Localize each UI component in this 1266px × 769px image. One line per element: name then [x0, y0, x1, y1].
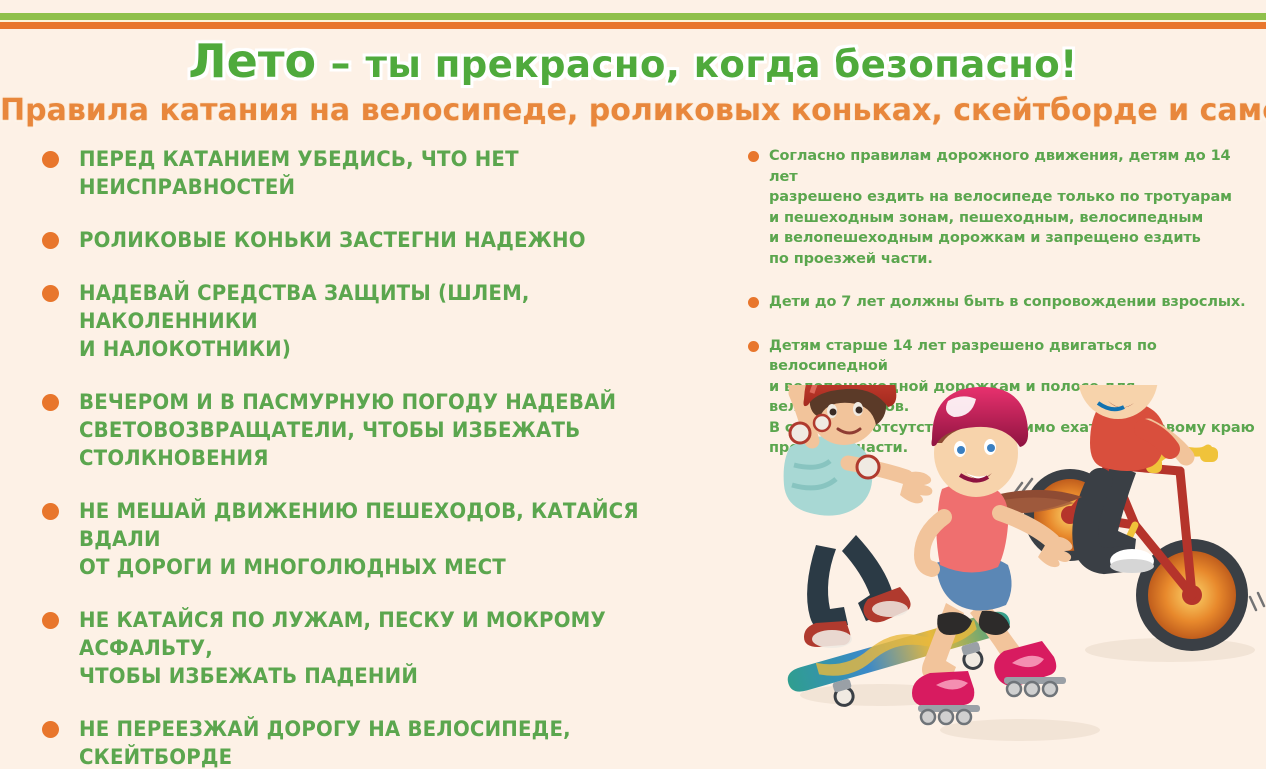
rule-text: ВЕЧЕРОМ И В ПАСМУРНУЮ ПОГОДУ НАДЕВАЙ СВЕ…	[79, 388, 702, 472]
title-word-summer: Лето	[188, 34, 316, 88]
skate-wheel	[1007, 682, 1021, 696]
skate-wheel	[1043, 682, 1057, 696]
poster-root: Лето – ты прекрасно, когда безопасно! Пр…	[0, 0, 1266, 769]
poster-title: Лето – ты прекрасно, когда безопасно!	[0, 34, 1266, 88]
green-stripe	[0, 13, 1266, 20]
list-item: НЕ МЕШАЙ ДВИЖЕНИЮ ПЕШЕХОДОВ, КАТАЙСЯ ВДА…	[42, 497, 742, 581]
skate-wheel	[921, 710, 935, 724]
rollerblade-back	[912, 671, 980, 724]
eye	[856, 407, 863, 414]
bullet-dot-icon	[42, 151, 59, 168]
bullet-dot-icon	[748, 341, 759, 352]
rule-text: НЕ КАТАЙСЯ ПО ЛУЖАМ, ПЕСКУ И МОКРОМУ АСФ…	[79, 606, 702, 690]
orange-stripe	[0, 22, 1266, 29]
skate-wheel	[1025, 682, 1039, 696]
list-item: НЕ ПЕРЕЕЗЖАЙ ДОРОГУ НА ВЕЛОСИПЕДЕ, СКЕЙТ…	[42, 715, 742, 769]
bullet-dot-icon	[42, 612, 59, 629]
eye	[987, 444, 995, 452]
title-tagline: ты прекрасно, когда безопасно!	[365, 43, 1077, 86]
rule-text: НАДЕВАЙ СРЕДСТВА ЗАЩИТЫ (ШЛЕМ, НАКОЛЕННИ…	[79, 279, 702, 363]
skate-wheel	[957, 710, 971, 724]
eye	[957, 446, 965, 454]
note-text: Дети до 7 лет должны быть в сопровождени…	[769, 292, 1246, 313]
title-dash: –	[316, 41, 365, 87]
bullet-dot-icon	[42, 721, 59, 738]
wristband	[857, 456, 879, 478]
bullet-dot-icon	[748, 151, 759, 162]
list-item: НЕ КАТАЙСЯ ПО ЛУЖАМ, ПЕСКУ И МОКРОМУ АСФ…	[42, 606, 742, 690]
list-item: ПЕРЕД КАТАНИЕМ УБЕДИСЬ, ЧТО НЕТ НЕИСПРАВ…	[42, 145, 742, 201]
note-text: Согласно правилам дорожного движения, де…	[769, 146, 1258, 269]
bicycle-boy	[1013, 385, 1264, 651]
skater-leg-back	[807, 545, 848, 631]
rule-text: ПЕРЕД КАТАНИЕМ УБЕДИСЬ, ЧТО НЕТ НЕИСПРАВ…	[79, 145, 702, 201]
top-decorative-stripes	[0, 0, 1266, 30]
bullet-dot-icon	[42, 394, 59, 411]
bullet-dot-icon	[42, 285, 59, 302]
subtitle-text: Правила катания на велосипеде, роликовых…	[0, 93, 1266, 128]
list-item: Дети до 7 лет должны быть в сопровождени…	[748, 292, 1258, 313]
rule-text: НЕ ПЕРЕЕЗЖАЙ ДОРОГУ НА ВЕЛОСИПЕДЕ, СКЕЙТ…	[79, 715, 702, 769]
poster-subtitle: Правила катания на велосипеде, роликовых…	[0, 93, 1266, 128]
list-item: НАДЕВАЙ СРЕДСТВА ЗАЩИТЫ (ШЛЕМ, НАКОЛЕННИ…	[42, 279, 742, 363]
bullet-dot-icon	[42, 503, 59, 520]
rules-list: ПЕРЕД КАТАНИЕМ УБЕДИСЬ, ЧТО НЕТ НЕИСПРАВ…	[42, 145, 742, 769]
list-item: РОЛИКОВЫЕ КОНЬКИ ЗАСТЕГНИ НАДЕЖНО	[42, 226, 742, 254]
skater-shoe-back	[804, 621, 852, 648]
wristband	[790, 423, 810, 443]
skate-wheel	[939, 710, 953, 724]
rollerblading-girl	[912, 387, 1082, 724]
children-illustration	[760, 385, 1266, 760]
rule-text: НЕ МЕШАЙ ДВИЖЕНИЮ ПЕШЕХОДОВ, КАТАЙСЯ ВДА…	[79, 497, 702, 581]
helmet-buckle	[814, 415, 830, 431]
list-item: Согласно правилам дорожного движения, де…	[748, 146, 1258, 269]
list-item: ВЕЧЕРОМ И В ПАСМУРНУЮ ПОГОДУ НАДЕВАЙ СВЕ…	[42, 388, 742, 472]
bullet-dot-icon	[748, 297, 759, 308]
bullet-dot-icon	[42, 232, 59, 249]
eye	[830, 409, 837, 416]
handlebar-grip	[1200, 447, 1218, 462]
rule-text: РОЛИКОВЫЕ КОНЬКИ ЗАСТЕГНИ НАДЕЖНО	[79, 226, 586, 254]
skater-shirt	[784, 436, 873, 515]
girl-head	[932, 387, 1029, 497]
